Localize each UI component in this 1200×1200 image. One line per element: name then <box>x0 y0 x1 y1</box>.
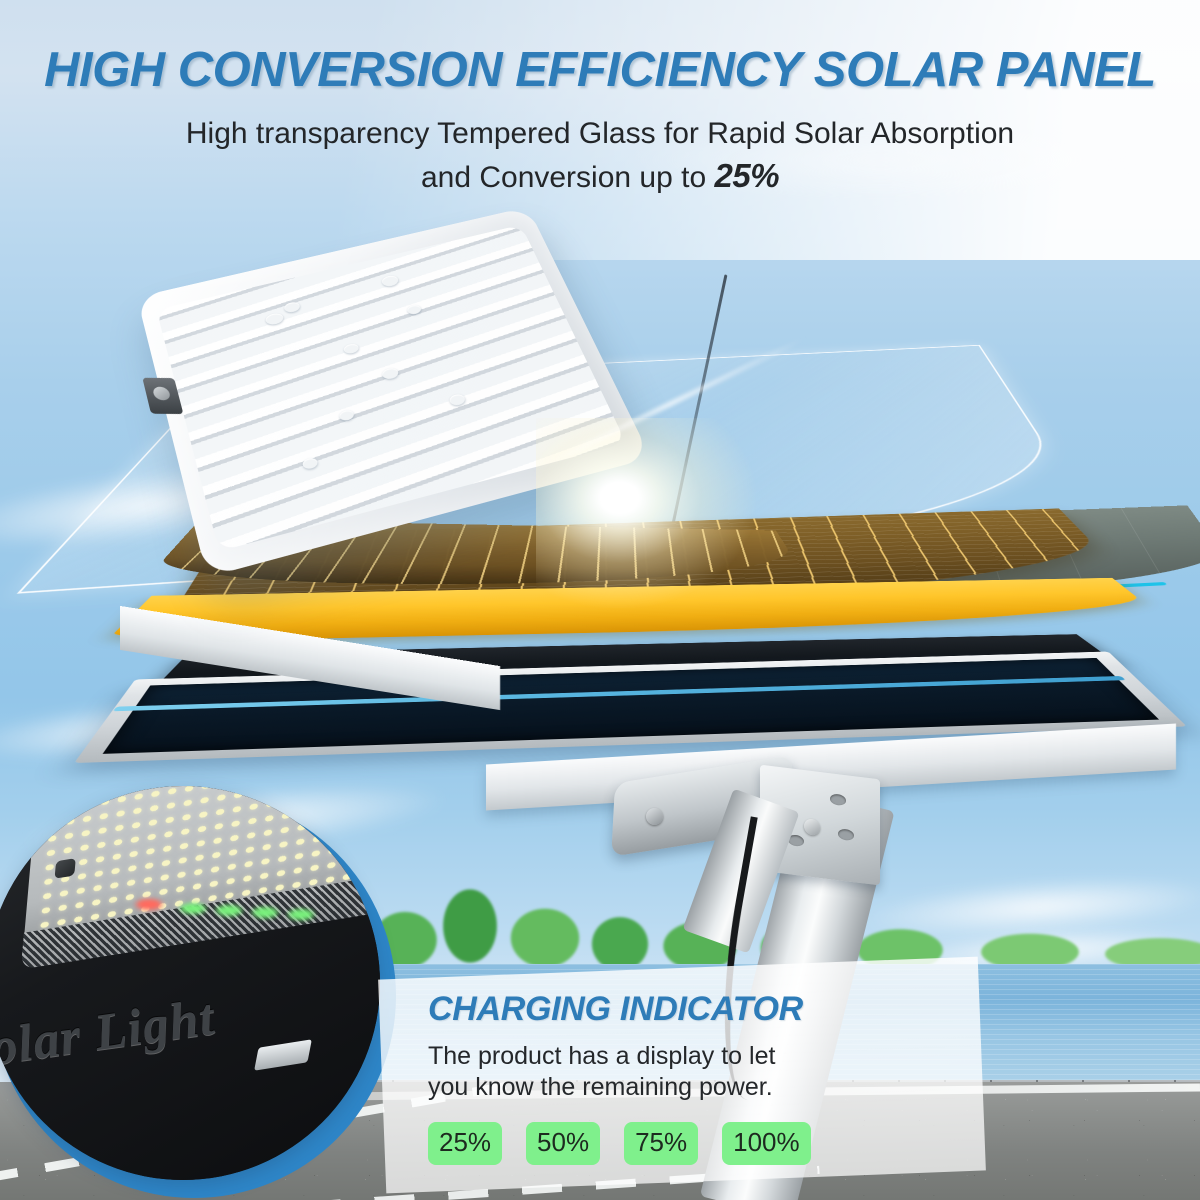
indicator-led-green <box>178 902 208 915</box>
charging-desc-line-1: The product has a display to let <box>428 1041 962 1072</box>
charge-level-badge: 25% <box>428 1122 502 1165</box>
efficiency-value: 25% <box>714 157 779 194</box>
page-title: HIGH CONVERSION EFFICIENCY SOLAR PANEL <box>0 42 1200 98</box>
bracket-hole <box>838 828 854 841</box>
charge-level-badge: 100% <box>722 1122 811 1165</box>
charge-level-badges: 25% 50% 75% 100% <box>428 1122 962 1165</box>
header: HIGH CONVERSION EFFICIENCY SOLAR PANEL H… <box>0 0 1200 197</box>
led-closeup-inset: Solar Light <box>0 786 380 1180</box>
charging-card-content: CHARGING INDICATOR The product has a dis… <box>428 990 962 1165</box>
indicator-led-green <box>250 906 280 919</box>
subtitle-line-2: and Conversion up to 25% <box>0 154 1200 198</box>
charge-level-badge: 50% <box>526 1122 600 1165</box>
charging-indicator-description: The product has a display to let you kno… <box>428 1041 962 1102</box>
charging-indicator-title: CHARGING INDICATOR <box>428 990 962 1029</box>
indicator-led-green <box>214 904 244 917</box>
charging-indicator-card: CHARGING INDICATOR The product has a dis… <box>382 968 982 1182</box>
joint-bolt <box>646 808 663 825</box>
charging-desc-line-2: you know the remaining power. <box>428 1072 962 1103</box>
bracket-hole <box>830 793 846 806</box>
indicator-led-red <box>134 898 164 911</box>
subtitle-line-2-text: and Conversion up to <box>421 161 715 194</box>
product-marketing-image: HIGH CONVERSION EFFICIENCY SOLAR PANEL H… <box>0 0 1200 1200</box>
indicator-led-green <box>286 908 316 921</box>
subtitle-line-1: High transparency Tempered Glass for Rap… <box>0 114 1200 154</box>
cover-tab-screw <box>152 387 171 401</box>
charge-level-badge: 75% <box>624 1122 698 1165</box>
page-subtitle: High transparency Tempered Glass for Rap… <box>0 114 1200 197</box>
